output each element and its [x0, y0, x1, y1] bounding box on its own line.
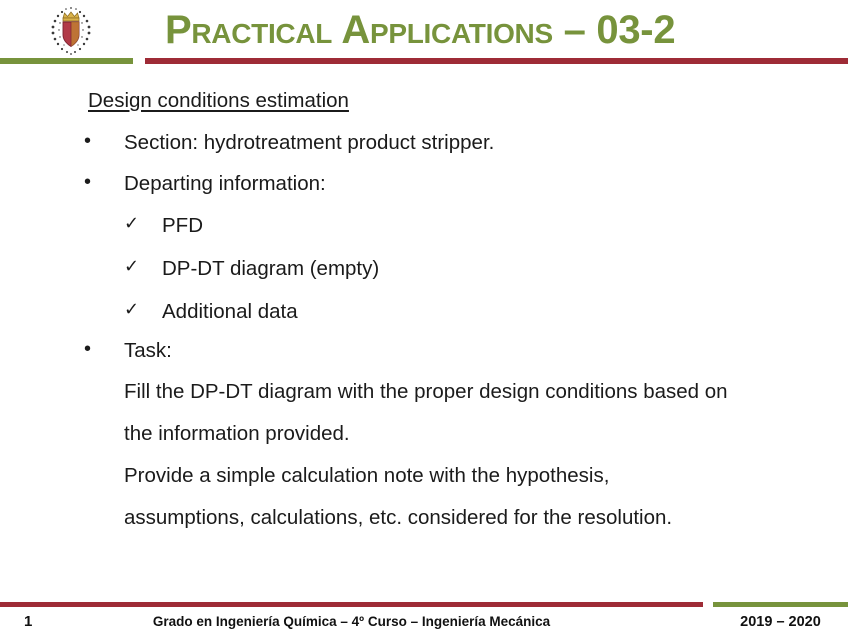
- task-paragraph-line: Fill the DP-DT diagram with the proper d…: [124, 379, 728, 405]
- slide-header: Practical Applications – 03-2: [0, 0, 848, 70]
- list-item-label: Section: hydrotreatment product stripper…: [124, 130, 494, 156]
- bullet-icon: •: [84, 171, 91, 194]
- task-paragraph-line: the information provided.: [124, 421, 350, 447]
- bullet-icon: •: [84, 338, 91, 361]
- footer-rule-red: [0, 602, 703, 607]
- list-item-label: Departing information:: [124, 171, 326, 197]
- university-crest-icon: [42, 4, 100, 60]
- footer-course-text: Grado en Ingeniería Química – 4º Curso –…: [0, 614, 703, 629]
- header-rule-green: [0, 58, 133, 64]
- slide-content: Design conditions estimation • Section: …: [0, 78, 848, 588]
- footer-rule-green: [713, 602, 848, 607]
- list-item-label: PFD: [162, 213, 203, 239]
- checkmark-icon: ✓: [124, 299, 139, 320]
- header-rule-red: [145, 58, 848, 64]
- section-heading: Design conditions estimation: [88, 88, 349, 114]
- bullet-icon: •: [84, 130, 91, 153]
- list-item-label: Additional data: [162, 299, 298, 325]
- checkmark-icon: ✓: [124, 256, 139, 277]
- task-paragraph-line: Provide a simple calculation note with t…: [124, 463, 609, 489]
- footer-academic-year: 2019 – 2020: [713, 614, 848, 630]
- checkmark-icon: ✓: [124, 213, 139, 234]
- task-paragraph-line: assumptions, calculations, etc. consider…: [124, 505, 672, 531]
- list-item-label: DP-DT diagram (empty): [162, 256, 379, 282]
- page-title: Practical Applications – 03-2: [165, 6, 825, 54]
- slide-footer: 1 Grado en Ingeniería Química – 4º Curso…: [0, 596, 848, 636]
- list-item-label: Task:: [124, 338, 172, 364]
